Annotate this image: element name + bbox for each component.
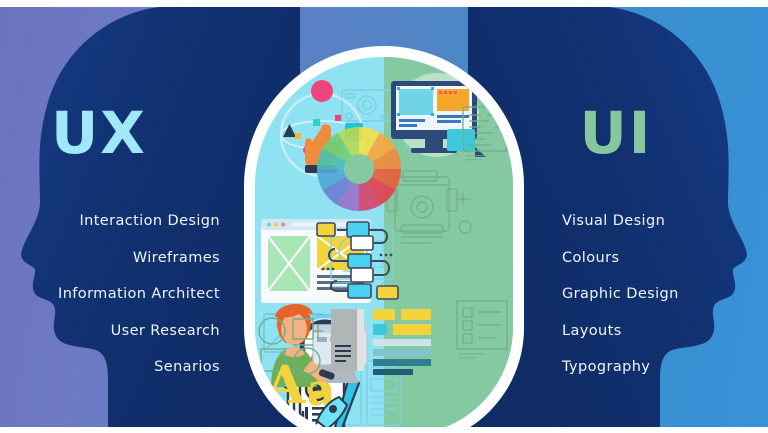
ux-heading: UX [0,104,204,162]
ui-item-list: Visual Design Colours Graphic Design Lay… [562,214,768,375]
color-wheel-icon [313,123,405,215]
ui-item: Layouts [562,324,768,339]
infographic-canvas: UX Interaction Design Wireframes Informa… [0,0,768,433]
ui-item: Graphic Design [562,287,768,302]
text-document-outline-icon [461,105,509,163]
bottom-white-margin [0,427,768,433]
ux-item: Wireframes [0,251,220,266]
ui-item: Colours [562,251,768,266]
ui-item: Typography [562,360,768,375]
ui-item: Visual Design [562,214,768,229]
ux-item: User Research [0,324,220,339]
ui-heading: UI [546,104,686,162]
ux-item: Information Architect [0,287,220,302]
ux-item-list: Interaction Design Wireframes Informatio… [0,214,220,375]
ux-item: Interaction Design [0,214,220,229]
lightbulb: A a [244,46,524,433]
checklist-outline-icon [455,299,509,361]
top-white-margin [0,0,768,7]
svg-text:A: A [264,355,306,416]
bulb-body: A a [255,57,513,433]
typography-pen-icon: A a [263,357,371,433]
ux-item: Senarios [0,360,220,375]
